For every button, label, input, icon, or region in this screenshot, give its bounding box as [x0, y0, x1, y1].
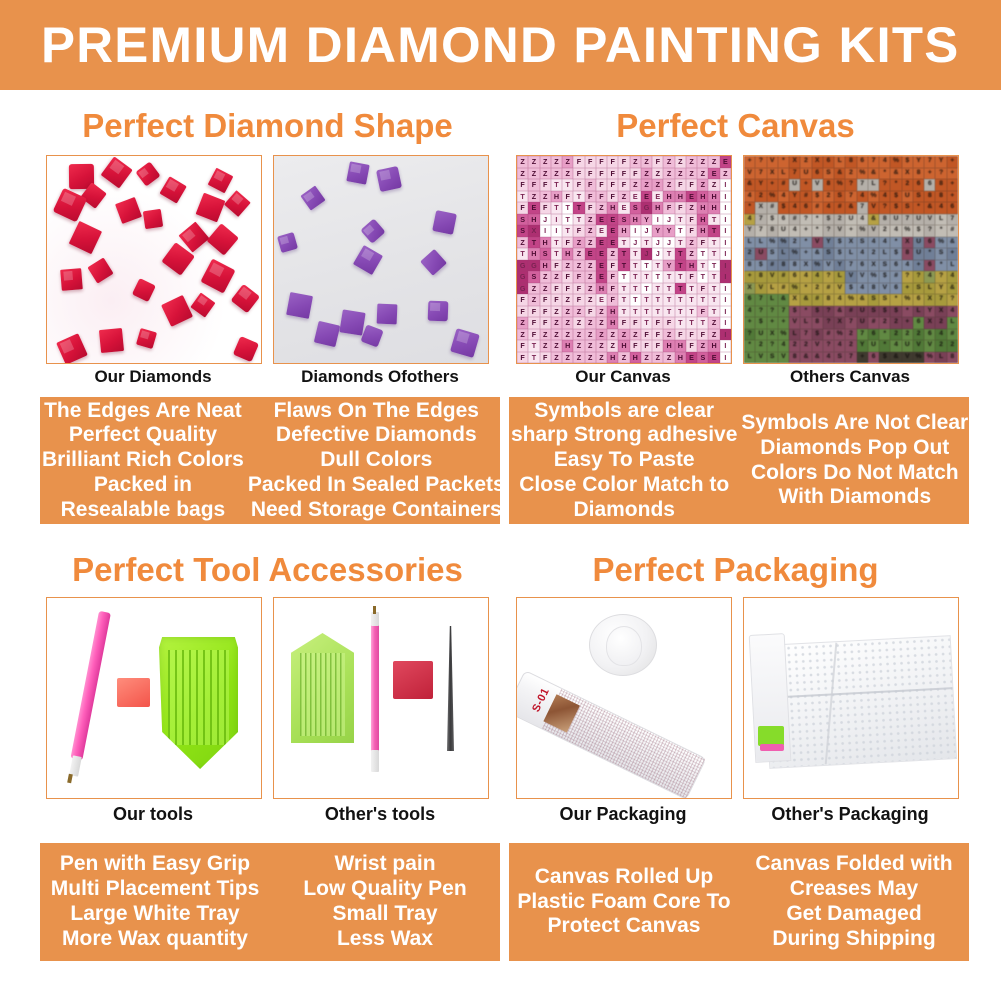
canvas-symbol-cell: V — [767, 156, 778, 168]
canvas-symbol-cell: ? — [913, 271, 924, 283]
photo-our-diamonds — [46, 155, 262, 364]
canvas-symbol-cell: F — [697, 237, 708, 249]
canvas-symbol-cell: F — [551, 283, 562, 295]
canvas-symbol-cell: Z — [551, 352, 562, 364]
red-drill-bead — [60, 268, 83, 291]
canvas-symbol-cell: F — [551, 294, 562, 306]
canvas-symbol-cell: I — [720, 214, 731, 226]
canvas-symbol-cell: # — [947, 329, 958, 341]
canvas-symbol-cell: E — [708, 352, 719, 364]
canvas-symbol-cell: V — [902, 352, 913, 364]
canvas-symbol-cell: F — [697, 283, 708, 295]
canvas-symbol-cell: $ — [834, 237, 845, 249]
canvas-symbol-cell: Z — [528, 191, 539, 203]
canvas-symbol-cell: Z — [528, 294, 539, 306]
canvas-symbol-cell: V — [812, 237, 823, 249]
canvas-symbol-cell: H — [528, 214, 539, 226]
canvas-symbol-cell: T — [641, 294, 652, 306]
canvas-symbol-cell: T — [562, 225, 573, 237]
canvas-symbol-cell: F — [540, 294, 551, 306]
canvas-symbol-cell: % — [857, 225, 868, 237]
canvas-symbol-cell: X — [812, 156, 823, 168]
canvas-symbol-cell: Z — [618, 329, 629, 341]
canvas-symbol-cell: Z — [551, 168, 562, 180]
canvas-symbol-cell: Z — [663, 179, 674, 191]
canvas-symbol-cell: 6 — [778, 214, 789, 226]
panel-line: Multi Placement Tips — [51, 877, 260, 902]
panel-line: Perfect Quality — [69, 423, 217, 448]
panel-column-ours: Canvas Rolled Up Plastic Foam Core To Pr… — [509, 843, 739, 961]
canvas-symbol-cell: Z — [641, 352, 652, 364]
canvas-symbol-cell: 8 — [789, 260, 800, 272]
canvas-symbol-cell: U — [755, 329, 766, 341]
canvas-symbol-cell: H — [663, 340, 674, 352]
panel-column-ours: Pen with Easy Grip Multi Placement Tips … — [40, 843, 270, 961]
canvas-symbol-cell: H — [652, 202, 663, 214]
panel-line: Get Damaged — [786, 902, 921, 927]
small-green-tray-icon — [291, 633, 354, 743]
canvas-symbol-cell: T — [708, 271, 719, 283]
canvas-symbol-cell: * — [879, 340, 890, 352]
canvas-symbol-cell: 7 — [935, 294, 946, 306]
panel-line: Easy To Paste — [554, 448, 695, 473]
canvas-symbol-cell: X — [845, 237, 856, 249]
canvas-symbol-cell: I — [720, 294, 731, 306]
canvas-symbol-cell: ? — [902, 271, 913, 283]
canvas-symbol-cell: F — [618, 317, 629, 329]
canvas-symbol-cell: I — [630, 225, 641, 237]
canvas-symbol-cell: I — [720, 179, 731, 191]
canvas-symbol-cell: 4 — [857, 283, 868, 295]
canvas-symbol-cell: 8 — [812, 317, 823, 329]
canvas-symbol-cell: T — [663, 306, 674, 318]
canvas-symbol-cell: H — [663, 191, 674, 203]
canvas-symbol-cell: & — [924, 202, 935, 214]
canvas-symbol-cell: 4 — [857, 191, 868, 203]
red-drill-bead — [99, 328, 124, 353]
canvas-symbol-cell: V — [744, 168, 755, 180]
panel-line: Less Wax — [337, 927, 433, 952]
canvas-symbol-cell: F — [540, 306, 551, 318]
canvas-symbol-cell: 7 — [789, 168, 800, 180]
canvas-symbol-cell: & — [947, 237, 958, 249]
canvas-symbol-cell: 6 — [924, 179, 935, 191]
canvas-symbol-cell: T — [708, 260, 719, 272]
canvas-symbol-cell: 4 — [890, 340, 901, 352]
canvas-symbol-cell: * — [935, 225, 946, 237]
canvas-symbol-cell: Z — [686, 202, 697, 214]
canvas-symbol-cell: E — [708, 168, 719, 180]
canvas-symbol-cell: T — [708, 248, 719, 260]
canvas-symbol-cell: J — [652, 237, 663, 249]
canvas-symbol-cell: F — [675, 202, 686, 214]
canvas-symbol-cell: F — [618, 168, 629, 180]
panel-line: More Wax quantity — [62, 927, 248, 952]
canvas-symbol-cell: 4 — [857, 248, 868, 260]
canvas-symbol-cell: F — [585, 191, 596, 203]
canvas-symbol-cell: U — [857, 317, 868, 329]
canvas-symbol-cell: V — [767, 271, 778, 283]
canvas-symbol-cell: I — [720, 191, 731, 203]
canvas-symbol-cell: 8 — [778, 260, 789, 272]
canvas-symbol-cell: # — [767, 202, 778, 214]
canvas-symbol-cell: V — [868, 225, 879, 237]
canvas-symbol-cell: & — [778, 294, 789, 306]
canvas-symbol-cell: & — [845, 202, 856, 214]
canvas-symbol-cell: Z — [686, 237, 697, 249]
canvas-symbol-cell: V — [924, 214, 935, 226]
canvas-symbol-cell: 6 — [913, 179, 924, 191]
canvas-symbol-cell: Z — [596, 306, 607, 318]
canvas-symbol-cell: S — [834, 191, 845, 203]
canvas-symbol-cell: H — [697, 191, 708, 203]
canvas-symbol-cell: U — [868, 340, 879, 352]
canvas-symbol-cell: L — [935, 352, 946, 364]
canvas-symbol-cell: Z — [585, 225, 596, 237]
panel-line: Protect Canvas — [548, 914, 701, 939]
canvas-symbol-cell: 2 — [800, 156, 811, 168]
canvas-symbol-cell: & — [890, 352, 901, 364]
canvas-symbol-cell: F — [607, 191, 618, 203]
canvas-symbol-cell: H — [686, 260, 697, 272]
canvas-symbol-cell: 4 — [902, 260, 913, 272]
canvas-symbol-cell: F — [607, 179, 618, 191]
canvas-symbol-cell: X — [800, 260, 811, 272]
canvas-symbol-cell: L — [947, 317, 958, 329]
caption-our-diamonds: Our Diamonds — [46, 368, 260, 385]
canvas-symbol-cell: T — [562, 214, 573, 226]
canvas-symbol-cell: Z — [585, 271, 596, 283]
canvas-symbol-cell: F — [641, 340, 652, 352]
canvas-symbol-cell: U — [755, 248, 766, 260]
canvas-symbol-cell: $ — [755, 260, 766, 272]
canvas-symbol-cell: T — [630, 271, 641, 283]
canvas-symbol-cell: # — [778, 283, 789, 295]
canvas-symbol-cell: 7 — [845, 317, 856, 329]
canvas-symbol-cell: 4 — [868, 237, 879, 249]
bubble-mailer-icon — [763, 635, 957, 769]
canvas-symbol-cell: 4 — [879, 191, 890, 203]
canvas-symbol-cell: T — [652, 294, 663, 306]
canvas-symbol-cell: F — [686, 340, 697, 352]
canvas-symbol-cell: F — [517, 306, 528, 318]
canvas-symbol-cell: T — [663, 283, 674, 295]
canvas-symbol-cell: % — [789, 248, 800, 260]
canvas-symbol-cell: Z — [562, 317, 573, 329]
canvas-symbol-cell: F — [585, 306, 596, 318]
canvas-symbol-cell: V — [845, 271, 856, 283]
canvas-symbol-cell: I — [551, 225, 562, 237]
canvas-symbol-cell: + — [800, 225, 811, 237]
canvas-symbol-cell: F — [573, 156, 584, 168]
section-title-diamond-shape: Perfect Diamond Shape — [40, 109, 495, 142]
canvas-symbol-cell: T — [675, 271, 686, 283]
canvas-symbol-cell: Z — [573, 237, 584, 249]
canvas-symbol-cell: T — [551, 248, 562, 260]
canvas-symbol-cell: F — [585, 168, 596, 180]
canvas-symbol-cell: V — [778, 352, 789, 364]
canvas-symbol-cell: Y — [935, 156, 946, 168]
canvas-symbol-cell: T — [630, 294, 641, 306]
canvas-symbol-cell: Y — [663, 225, 674, 237]
canvas-symbol-cell: Z — [517, 317, 528, 329]
caption-others-diamonds: Diamonds Ofothers — [273, 368, 487, 385]
canvas-symbol-cell: & — [834, 168, 845, 180]
canvas-symbol-cell: 2 — [789, 237, 800, 249]
canvas-symbol-cell: S — [618, 214, 629, 226]
purple-drill-bead — [428, 301, 449, 322]
canvas-symbol-cell: T — [573, 202, 584, 214]
canvas-symbol-cell: Z — [607, 340, 618, 352]
canvas-symbol-cell: Z — [528, 283, 539, 295]
canvas-symbol-cell: 8 — [879, 214, 890, 226]
canvas-symbol-cell: # — [789, 214, 800, 226]
canvas-symbol-cell: 4 — [823, 202, 834, 214]
canvas-symbol-cell: U — [902, 340, 913, 352]
panel-line: Diamonds Pop Out — [760, 436, 949, 461]
canvas-symbol-cell: Z — [551, 156, 562, 168]
panel-line: Pen with Easy Grip — [60, 852, 250, 877]
canvas-symbol-cell: S — [868, 294, 879, 306]
canvas-symbol-cell: T — [630, 306, 641, 318]
canvas-symbol-cell: $ — [823, 214, 834, 226]
canvas-symbol-cell: L — [947, 260, 958, 272]
canvas-symbol-cell: F — [596, 168, 607, 180]
canvas-symbol-cell: T — [708, 283, 719, 295]
canvas-symbol-cell: 6 — [890, 260, 901, 272]
canvas-symbol-cell: 4 — [879, 237, 890, 249]
canvas-symbol-cell: # — [890, 271, 901, 283]
canvas-symbol-cell: Z — [618, 352, 629, 364]
canvas-symbol-cell: F — [573, 225, 584, 237]
canvas-symbol-cell: T — [551, 202, 562, 214]
canvas-symbol-cell: T — [641, 306, 652, 318]
canvas-symbol-cell: 6 — [868, 352, 879, 364]
canvas-symbol-cell: # — [800, 191, 811, 203]
canvas-symbol-cell: I — [551, 214, 562, 226]
canvas-symbol-cell: % — [789, 283, 800, 295]
red-drill-bead — [143, 208, 163, 228]
canvas-symbol-cell: Z — [551, 329, 562, 341]
canvas-symbol-cell: % — [778, 329, 789, 341]
canvas-symbol-cell: & — [868, 214, 879, 226]
canvas-symbol-cell: % — [868, 191, 879, 203]
canvas-symbol-cell: Z — [528, 168, 539, 180]
canvas-symbol-cell: S — [879, 294, 890, 306]
canvas-symbol-cell: ? — [935, 168, 946, 180]
canvas-symbol-cell: Y — [663, 260, 674, 272]
canvas-symbol-cell: V — [812, 179, 823, 191]
canvas-symbol-cell: E — [652, 191, 663, 203]
canvas-symbol-cell: # — [778, 179, 789, 191]
panel-column-others: Canvas Folded with Creases May Get Damag… — [739, 843, 969, 961]
canvas-symbol-cell: Z — [573, 260, 584, 272]
canvas-symbol-cell: T — [618, 283, 629, 295]
canvas-symbol-cell: 6 — [857, 260, 868, 272]
canvas-symbol-cell: * — [890, 179, 901, 191]
canvas-symbol-cell: H — [697, 214, 708, 226]
canvas-symbol-cell: T — [708, 237, 719, 249]
canvas-symbol-cell: ? — [947, 294, 958, 306]
canvas-symbol-cell: 4 — [789, 202, 800, 214]
canvas-symbol-cell: L — [845, 248, 856, 260]
canvas-symbol-cell: T — [641, 317, 652, 329]
canvas-symbol-cell: Z — [551, 340, 562, 352]
canvas-symbol-cell: F — [517, 179, 528, 191]
canvas-symbol-cell: 7 — [755, 214, 766, 226]
canvas-symbol-cell: $ — [890, 248, 901, 260]
canvas-symbol-cell: 8 — [924, 191, 935, 203]
canvas-symbol-cell: 7 — [845, 352, 856, 364]
canvas-symbol-cell: + — [947, 179, 958, 191]
canvas-symbol-cell: 8 — [845, 156, 856, 168]
canvas-symbol-cell: J — [540, 214, 551, 226]
canvas-symbol-cell: L — [744, 237, 755, 249]
panel-line: Wrist pain — [334, 852, 435, 877]
canvas-symbol-cell: Y — [755, 179, 766, 191]
canvas-symbol-cell: L — [868, 179, 879, 191]
panel-column-others: Symbols Are Not Clear Diamonds Pop Out C… — [739, 397, 970, 524]
canvas-symbol-cell: F — [528, 179, 539, 191]
canvas-symbol-cell: L — [755, 237, 766, 249]
page-title: PREMIUM DIAMOND PAINTING KITS — [41, 20, 960, 70]
panel-line: During Shipping — [772, 927, 935, 952]
canvas-symbol-cell: I — [720, 260, 731, 272]
canvas-symbol-cell: G — [528, 260, 539, 272]
panel-line: Canvas Rolled Up — [535, 865, 714, 890]
canvas-symbol-cell: T — [630, 283, 641, 295]
panel-column-ours: The Edges Are Neat Perfect Quality Brill… — [40, 397, 246, 524]
canvas-symbol-cell: E — [720, 156, 731, 168]
canvas-symbol-cell: L — [789, 329, 800, 341]
canvas-symbol-cell: F — [517, 202, 528, 214]
canvas-symbol-cell: I — [720, 271, 731, 283]
canvas-symbol-cell: T — [573, 191, 584, 203]
canvas-symbol-cell: F — [517, 340, 528, 352]
canvas-symbol-cell: ? — [935, 271, 946, 283]
panel-line: Close Color Match to — [519, 473, 729, 498]
canvas-symbol-cell: % — [890, 156, 901, 168]
panel-diamond-shape: The Edges Are Neat Perfect Quality Brill… — [40, 397, 500, 524]
canvas-symbol-cell: X — [789, 294, 800, 306]
canvas-symbol-cell: $ — [778, 202, 789, 214]
canvas-symbol-cell: Z — [585, 237, 596, 249]
canvas-symbol-cell: 6 — [823, 156, 834, 168]
canvas-symbol-cell: 2 — [879, 225, 890, 237]
canvas-symbol-cell: 6 — [924, 260, 935, 272]
canvas-symbol-cell: ? — [823, 340, 834, 352]
canvas-symbol-cell: Z — [697, 179, 708, 191]
canvas-symbol-cell: F — [540, 352, 551, 364]
canvas-symbol-cell: 4 — [834, 294, 845, 306]
canvas-symbol-cell: * — [800, 306, 811, 318]
canvas-symbol-cell: Z — [517, 237, 528, 249]
canvas-symbol-cell: E — [607, 214, 618, 226]
canvas-symbol-cell: T — [652, 306, 663, 318]
canvas-symbol-cell: F — [652, 340, 663, 352]
canvas-symbol-cell: I — [720, 225, 731, 237]
canvas-symbol-cell: V — [823, 260, 834, 272]
canvas-symbol-cell: T — [697, 248, 708, 260]
canvas-symbol-cell: L — [913, 306, 924, 318]
canvas-symbol-cell: H — [540, 260, 551, 272]
canvas-symbol-cell: 6 — [947, 202, 958, 214]
canvas-symbol-cell: T — [686, 294, 697, 306]
canvas-symbol-cell: Z — [585, 283, 596, 295]
canvas-symbol-cell: 6 — [789, 271, 800, 283]
canvas-symbol-cell: T — [641, 271, 652, 283]
canvas-symbol-cell: T — [697, 294, 708, 306]
canvas-symbol-cell: H — [562, 340, 573, 352]
canvas-symbol-cell: E — [528, 202, 539, 214]
canvas-symbol-cell: # — [823, 283, 834, 295]
canvas-symbol-cell: I — [720, 340, 731, 352]
canvas-symbol-cell: T — [675, 306, 686, 318]
canvas-symbol-cell: * — [800, 283, 811, 295]
canvas-symbol-cell: & — [744, 179, 755, 191]
canvas-symbol-cell: 4 — [823, 352, 834, 364]
canvas-symbol-cell: T — [663, 271, 674, 283]
canvas-symbol-cell: H — [596, 283, 607, 295]
canvas-symbol-cell: T — [618, 237, 629, 249]
canvas-symbol-cell: ? — [823, 225, 834, 237]
canvas-symbol-cell: 2 — [845, 329, 856, 341]
canvas-symbol-cell: 4 — [744, 214, 755, 226]
canvas-symbol-cell: L — [924, 283, 935, 295]
canvas-symbol-cell: S — [767, 352, 778, 364]
canvas-symbol-cell: T — [675, 237, 686, 249]
canvas-symbol-cell: H — [708, 340, 719, 352]
canvas-symbol-cell: Z — [585, 329, 596, 341]
canvas-symbol-cell: H — [618, 340, 629, 352]
canvas-symbol-cell: % — [767, 191, 778, 203]
canvas-symbol-cell: % — [778, 237, 789, 249]
canvas-symbol-cell: $ — [845, 283, 856, 295]
canvas-symbol-cell: Z — [663, 156, 674, 168]
canvas-symbol-cell: Y — [652, 225, 663, 237]
canvas-symbol-cell: 6 — [913, 317, 924, 329]
canvas-symbol-cell: 7 — [845, 191, 856, 203]
panel-line: Defective Diamonds — [276, 423, 477, 448]
canvas-symbol-cell: + — [902, 317, 913, 329]
canvas-symbol-cell: % — [857, 168, 868, 180]
canvas-symbol-cell: F — [675, 329, 686, 341]
canvas-symbol-cell: V — [755, 283, 766, 295]
canvas-symbol-cell: + — [845, 225, 856, 237]
canvas-symbol-cell: * — [890, 237, 901, 249]
canvas-symbol-cell: $ — [890, 306, 901, 318]
canvas-symbol-cell: X — [924, 294, 935, 306]
canvas-symbol-cell: I — [720, 317, 731, 329]
canvas-symbol-cell: X — [744, 283, 755, 295]
panel-line: sharp Strong adhesive — [511, 423, 737, 448]
canvas-symbol-cell: # — [845, 306, 856, 318]
canvas-symbol-cell: Z — [708, 179, 719, 191]
canvas-symbol-cell: F — [686, 179, 697, 191]
canvas-symbol-cell: U — [778, 225, 789, 237]
canvas-symbol-cell: T — [630, 248, 641, 260]
canvas-symbol-cell: Z — [630, 329, 641, 341]
canvas-symbol-cell: T — [562, 179, 573, 191]
panel-line: Symbols are clear — [534, 399, 714, 424]
canvas-symbol-cell: T — [641, 283, 652, 295]
canvas-symbol-cell: Z — [585, 214, 596, 226]
canvas-symbol-cell: J — [630, 237, 641, 249]
canvas-symbol-cell: U — [857, 306, 868, 318]
canvas-symbol-cell: Z — [663, 329, 674, 341]
canvas-symbol-cell: S — [517, 225, 528, 237]
canvas-symbol-cell: T — [663, 294, 674, 306]
